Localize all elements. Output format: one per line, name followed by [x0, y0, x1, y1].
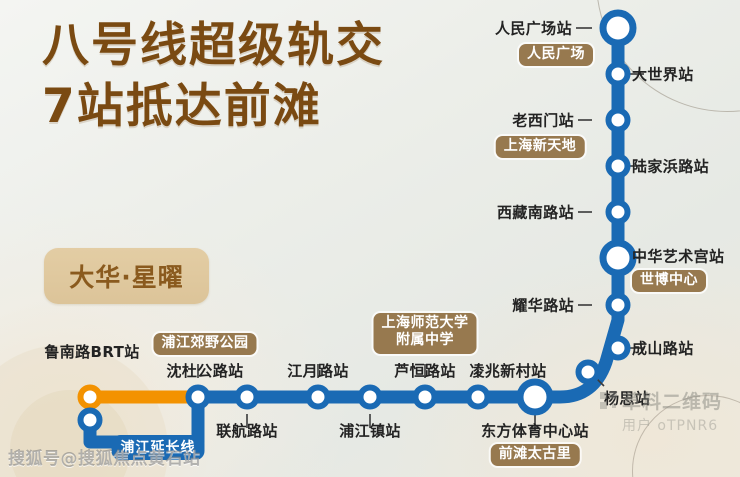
station-label-lujiabanglu: 陆家浜路站 — [632, 156, 709, 177]
station-dot-lunanlu-brt — [81, 388, 100, 407]
station-label-xizangnanlu: 西藏南路站 — [497, 202, 574, 223]
station-dot-dashijie — [609, 65, 628, 84]
poster-canvas: 八号线超级轨交 7站抵达前滩 大华·星曜 — [0, 0, 740, 477]
horizontal-station-dots — [81, 382, 551, 430]
vertical-station-dots — [579, 13, 634, 382]
station-label-laoximen: 老西门站 — [512, 110, 574, 131]
station-label-renmin-square: 人民广场站 — [495, 18, 572, 39]
station-dot-pujiangzhen — [361, 388, 380, 407]
station-label-zhonghua-art-palace: 中华艺术宫站 — [632, 246, 724, 267]
station-label-luhenglu: 芦恒路站 — [394, 360, 456, 381]
station-dot-lingzhaoxincun — [469, 388, 488, 407]
station-dot-luhenglu — [416, 388, 435, 407]
poi-badge-pujiang-country-park: 浦江郊野公园 — [154, 333, 257, 355]
station-dot-zhonghua-art — [603, 243, 633, 273]
poi-line-2: 附属中学 — [382, 332, 469, 349]
poi-badge-renmin-square: 人民广场 — [519, 44, 593, 66]
station-label-jiangyuelu: 江月路站 — [287, 360, 349, 381]
station-label-chengshanlu: 成山路站 — [632, 338, 694, 359]
station-dot-extension-end — [81, 411, 100, 430]
poi-badge-qiantan-taikoo-li: 前滩太古里 — [491, 444, 580, 466]
station-label-yangsi: 杨思站 — [604, 388, 650, 409]
station-dot-xizangnanlu — [609, 203, 628, 222]
station-dot-renmin-square — [603, 13, 633, 43]
station-dot-chengshanlu — [609, 339, 628, 358]
station-label-yaohualu: 耀华路站 — [512, 295, 574, 316]
watermark-sohu: 搜狐号@搜狐焦点黄石站 — [8, 444, 201, 469]
station-label-pujiangzhen: 浦江镇站 — [339, 420, 401, 441]
station-dot-shendugonglu — [189, 388, 208, 407]
station-label-dashijie: 大世界站 — [632, 64, 694, 85]
station-label-lingzhaoxincun: 凌兆新村站 — [469, 360, 546, 381]
station-label-lianhanglu: 联航路站 — [216, 420, 278, 441]
station-dot-lianhanglu — [238, 388, 257, 407]
station-label-shendugonglu: 沈杜公路站 — [166, 360, 243, 381]
station-dot-oriental-sports — [520, 382, 550, 412]
station-dot-laoximen — [609, 111, 628, 130]
poi-line-1: 上海师范大学 — [382, 315, 469, 332]
station-dot-yaohualu — [609, 296, 628, 315]
station-dot-yangsi — [579, 363, 598, 382]
poi-badge-xintiandi: 上海新天地 — [496, 136, 585, 158]
poi-badge-shishi-affiliated-middle-school: 上海师范大学 附属中学 — [374, 313, 477, 354]
station-dot-jiangyuelu — [309, 388, 328, 407]
station-label-oriental-sports-center: 东方体育中心站 — [481, 420, 589, 441]
station-dot-lujiabang — [609, 157, 628, 176]
poi-badge-shibo-center: 世博中心 — [632, 270, 706, 292]
station-label-lunanlu-brt: 鲁南路BRT站 — [44, 341, 139, 362]
